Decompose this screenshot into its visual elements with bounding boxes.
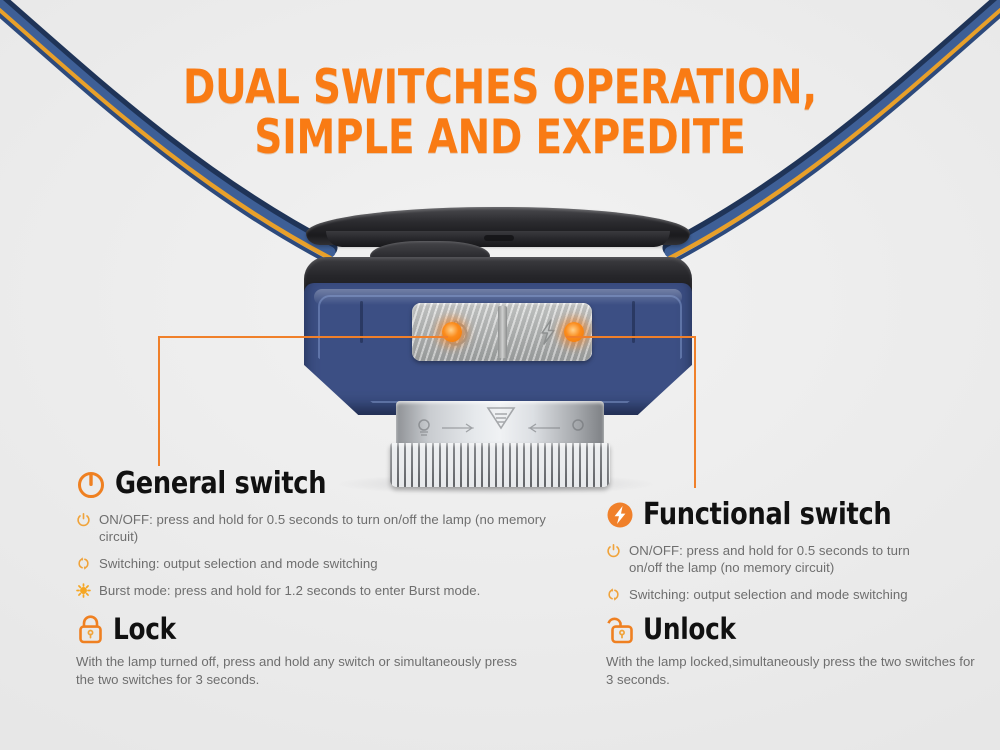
leader-line-right-horizontal <box>566 336 696 338</box>
functional-switch-bullets: ON/OFF: press and hold for 0.5 seconds t… <box>606 542 946 603</box>
burst-sun-icon <box>76 583 91 598</box>
power-icon <box>76 512 91 527</box>
bullet-item: Switching: output selection and mode swi… <box>76 555 546 572</box>
unlock-description: With the lamp locked,simultaneously pres… <box>606 653 976 689</box>
functional-switch-heading: Functional switch <box>643 497 891 532</box>
lock-description: With the lamp turned off, press and hold… <box>76 653 536 689</box>
feature-unlock: Unlock With the lamp locked,simultaneous… <box>606 612 976 689</box>
bullet-text: Burst mode: press and hold for 1.2 secon… <box>99 582 480 599</box>
bezel-side-markings <box>408 417 594 439</box>
title-line-1: DUAL SWITCHES OPERATION, <box>40 63 960 113</box>
bullet-text: ON/OFF: press and hold for 0.5 seconds t… <box>629 542 946 576</box>
functional-switch-indicator-dot <box>564 322 584 342</box>
bullet-item: Burst mode: press and hold for 1.2 secon… <box>76 582 546 599</box>
functional-switch-heading-row: Functional switch <box>606 497 946 532</box>
lightning-symbol-icon[interactable] <box>532 316 564 348</box>
bullet-item: Switching: output selection and mode swi… <box>606 586 946 603</box>
leader-line-left-vertical <box>158 336 160 466</box>
lightning-circle-icon <box>606 501 634 529</box>
unlock-heading: Unlock <box>643 612 736 646</box>
padlock-open-icon <box>606 614 635 644</box>
headlamp-product-image <box>296 205 700 495</box>
infographic-page: DUAL SWITCHES OPERATION, SIMPLE AND EXPE… <box>0 0 1000 750</box>
general-switch-heading-row: General switch <box>76 466 546 501</box>
page-title: DUAL SWITCHES OPERATION, SIMPLE AND EXPE… <box>0 63 1000 163</box>
padlock-closed-icon <box>76 614 105 644</box>
leader-line-right-vertical <box>694 336 696 488</box>
leader-line-left-horizontal <box>158 336 448 338</box>
lock-heading: Lock <box>113 612 176 646</box>
cycle-arrows-icon <box>606 587 621 602</box>
general-switch-heading: General switch <box>115 466 326 501</box>
power-circle-icon <box>76 469 106 499</box>
unlock-heading-row: Unlock <box>606 612 976 646</box>
bullet-text: Switching: output selection and mode swi… <box>629 586 908 603</box>
general-switch-indicator-dot <box>442 322 462 342</box>
bullet-item: ON/OFF: press and hold for 0.5 seconds t… <box>606 542 946 576</box>
strap-bracket-notch <box>484 235 514 241</box>
feature-general-switch: General switch ON/OFF: press and hold fo… <box>76 466 546 609</box>
feature-functional-switch: Functional switch ON/OFF: press and hold… <box>606 497 946 613</box>
switch-panel-divider <box>498 306 507 358</box>
power-icon <box>606 543 621 558</box>
lock-heading-row: Lock <box>76 612 536 646</box>
cycle-arrows-icon <box>76 556 91 571</box>
feature-lock: Lock With the lamp turned off, press and… <box>76 612 536 689</box>
bullet-text: ON/OFF: press and hold for 0.5 seconds t… <box>99 511 546 545</box>
bullet-item: ON/OFF: press and hold for 0.5 seconds t… <box>76 511 546 545</box>
title-line-2: SIMPLE AND EXPEDITE <box>40 113 960 163</box>
general-switch-bullets: ON/OFF: press and hold for 0.5 seconds t… <box>76 511 546 599</box>
bullet-text: Switching: output selection and mode swi… <box>99 555 378 572</box>
